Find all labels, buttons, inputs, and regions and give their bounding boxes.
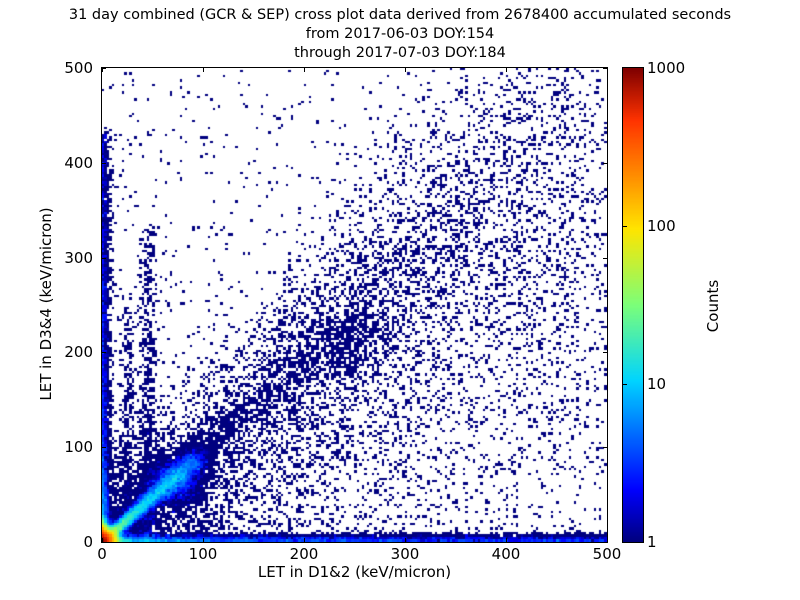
x-tick-mark-top bbox=[405, 68, 406, 72]
x-tick-label: 200 bbox=[290, 545, 319, 563]
colorbar-tick-mark bbox=[623, 226, 627, 227]
y-tick-mark-right bbox=[603, 68, 607, 69]
colorbar-tick-label: 100 bbox=[647, 217, 676, 235]
figure-title: 31 day combined (GCR & SEP) cross plot d… bbox=[0, 6, 800, 63]
colorbar[interactable] bbox=[622, 67, 644, 543]
y-tick-mark-right bbox=[603, 447, 607, 448]
x-tick-mark-top bbox=[506, 68, 507, 72]
plot-area[interactable] bbox=[101, 67, 608, 543]
y-tick-mark-right bbox=[603, 542, 607, 543]
scatter-heatmap bbox=[102, 68, 607, 542]
title-line-2: from 2017-06-03 DOY:154 bbox=[0, 25, 800, 44]
x-tick-mark bbox=[405, 538, 406, 542]
y-tick-label: 0 bbox=[25, 533, 93, 551]
y-tick-mark-right bbox=[603, 352, 607, 353]
y-tick-mark bbox=[102, 163, 106, 164]
x-tick-mark-top bbox=[203, 68, 204, 72]
x-tick-mark bbox=[607, 538, 608, 542]
y-axis-label: LET in D3&4 (keV/micron) bbox=[37, 154, 55, 454]
x-tick-mark bbox=[203, 538, 204, 542]
y-tick-label: 200 bbox=[25, 343, 93, 361]
colorbar-tick-label: 10 bbox=[647, 375, 666, 393]
x-tick-mark-top bbox=[304, 68, 305, 72]
y-tick-mark bbox=[102, 352, 106, 353]
x-tick-label: 300 bbox=[391, 545, 420, 563]
y-tick-label: 100 bbox=[25, 438, 93, 456]
x-tick-label: 400 bbox=[492, 545, 521, 563]
x-tick-label: 100 bbox=[189, 545, 218, 563]
title-line-1: 31 day combined (GCR & SEP) cross plot d… bbox=[0, 6, 800, 25]
x-tick-mark bbox=[506, 538, 507, 542]
x-axis-label: LET in D1&2 (keV/micron) bbox=[101, 563, 608, 581]
y-tick-label: 400 bbox=[25, 154, 93, 172]
y-tick-label: 500 bbox=[25, 59, 93, 77]
y-tick-mark-right bbox=[603, 163, 607, 164]
colorbar-tick-mark bbox=[623, 384, 627, 385]
x-tick-mark bbox=[304, 538, 305, 542]
y-tick-mark bbox=[102, 542, 106, 543]
y-tick-mark-right bbox=[603, 258, 607, 259]
y-tick-mark bbox=[102, 258, 106, 259]
figure-canvas: 31 day combined (GCR & SEP) cross plot d… bbox=[0, 0, 800, 600]
colorbar-tick-label: 1 bbox=[647, 533, 657, 551]
y-tick-label: 300 bbox=[25, 249, 93, 267]
y-tick-mark bbox=[102, 68, 106, 69]
x-tick-mark-top bbox=[607, 68, 608, 72]
x-tick-label: 0 bbox=[97, 545, 107, 563]
x-tick-label: 500 bbox=[593, 545, 622, 563]
colorbar-label: Counts bbox=[704, 196, 722, 416]
colorbar-tick-label: 1000 bbox=[647, 59, 685, 77]
y-tick-mark bbox=[102, 447, 106, 448]
colorbar-gradient bbox=[623, 68, 643, 542]
